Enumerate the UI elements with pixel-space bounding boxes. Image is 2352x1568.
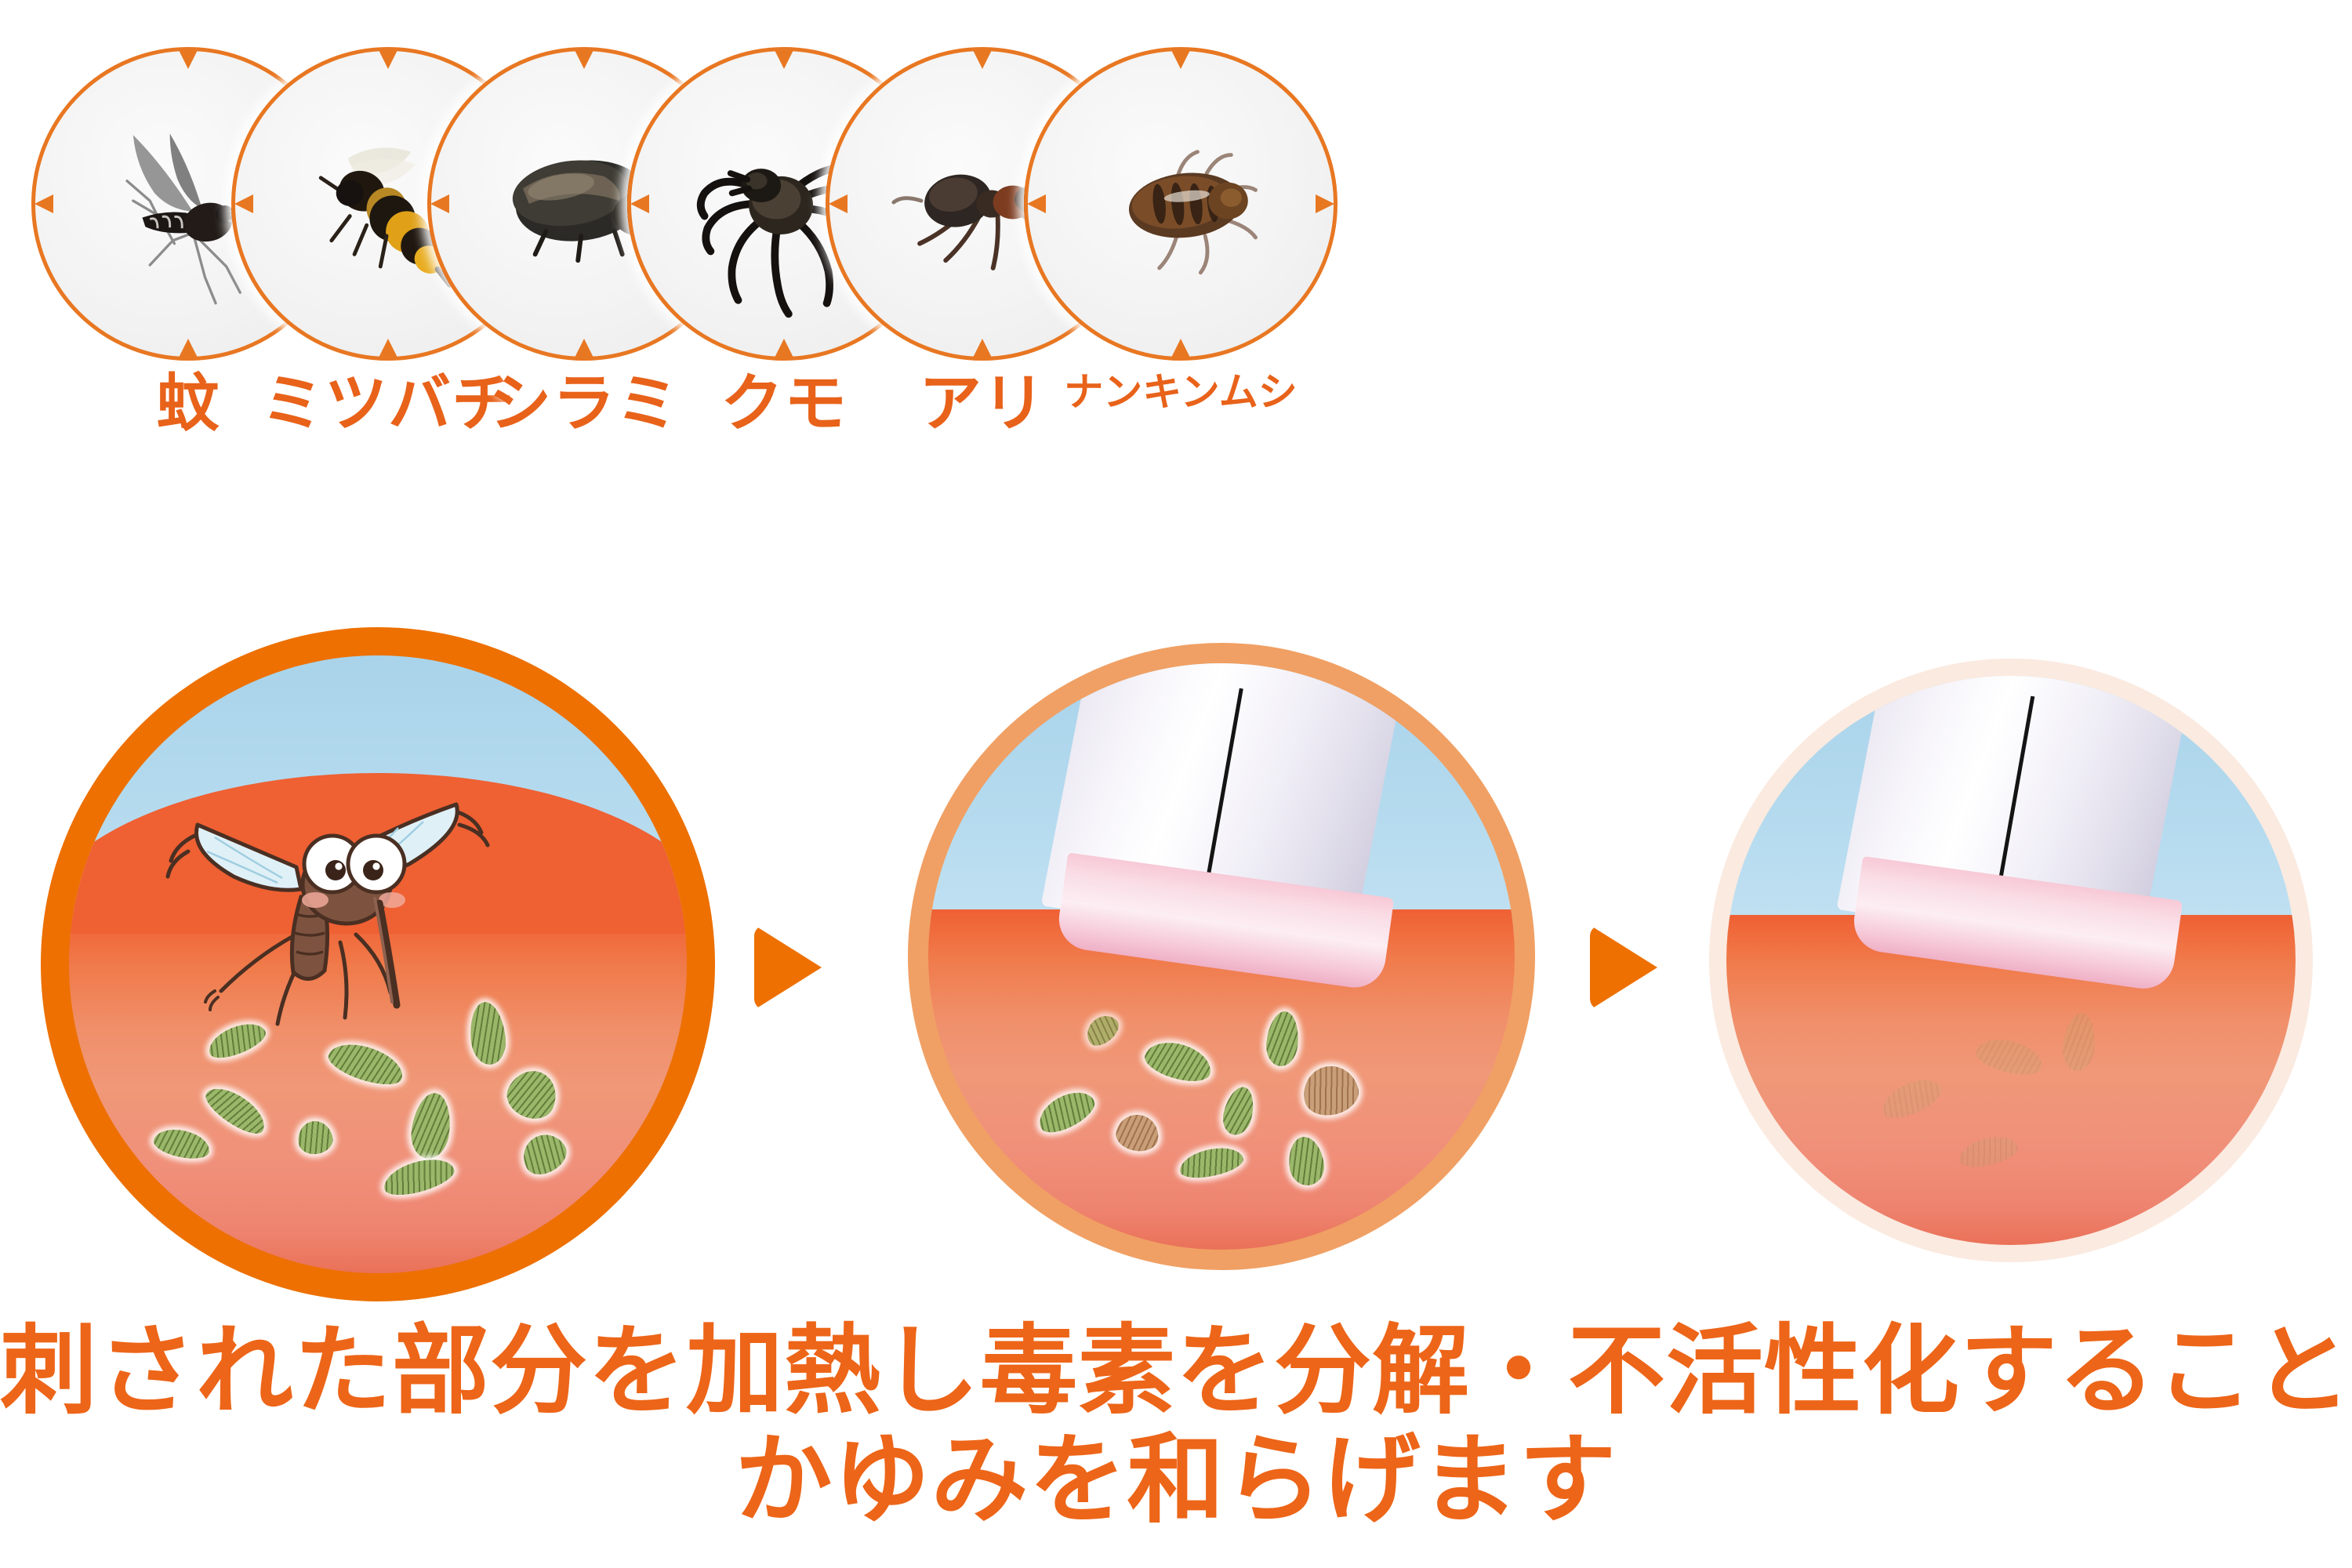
insect-gallery: 蚊 <box>0 47 2352 596</box>
caption-line-1: 刺された部分を加熱し毒素を分解・不活性化することで <box>0 1317 2352 1426</box>
caption-block: 刺された部分を加熱し毒素を分解・不活性化することで かゆみを和らげます <box>0 1317 2352 1535</box>
process-diagram <box>0 627 2352 1317</box>
process-step-relieved[interactable] <box>1709 659 2313 1262</box>
process-step-heat[interactable] <box>908 643 1535 1270</box>
device-on-clear-skin-icon <box>1726 676 2296 1245</box>
step-heat-scene <box>928 663 1515 1250</box>
process-step-bite[interactable] <box>41 627 715 1301</box>
step-relieved-scene <box>1726 676 2296 1245</box>
step-relieved-circle <box>1709 659 2313 1262</box>
step-bite-circle <box>41 627 715 1301</box>
bedbug-icon <box>1028 51 1334 357</box>
arrow-right-icon-1 <box>754 925 822 1010</box>
step-heat-circle <box>908 643 1535 1270</box>
infographic-page: 蚊 <box>0 0 2352 1568</box>
insect-item-bedbug[interactable]: ナンキンムシ <box>1016 47 1345 596</box>
target-circle-bedbug <box>1024 47 1338 361</box>
step-bite-scene <box>69 655 687 1273</box>
insect-label-bedbug: ナンキンムシ <box>1016 372 1345 412</box>
arrow-right-icon-2 <box>1590 925 1657 1010</box>
caption-line-2: かゆみを和らげます <box>0 1426 2352 1535</box>
